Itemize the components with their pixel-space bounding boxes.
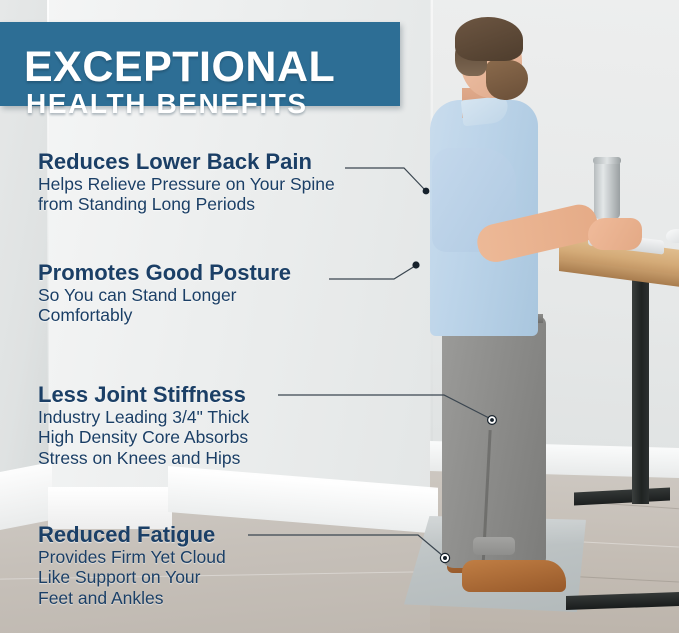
benefit-body-line: Helps Relieve Pressure on Your Spine [38,174,335,194]
benefit-body-line: Industry Leading 3/4" Thick [38,407,249,427]
benefit-body-line: from Standing Long Periods [38,194,335,214]
benefit-block-2: Promotes Good Posture So You can Stand L… [38,261,291,326]
hair [455,17,523,61]
benefit-body-line: High Density Core Absorbs [38,427,249,447]
benefit-body-line: Stress on Knees and Hips [38,448,249,468]
benefit-block-4: Reduced Fatigue Provides Firm Yet Cloud … [38,523,226,608]
header-banner: EXCEPTIONAL HEALTH BENEFITS [0,22,400,106]
desk-leg [632,272,649,504]
benefit-body-line: Feet and Ankles [38,588,226,608]
hand [588,218,642,250]
benefit-body-line: Provides Firm Yet Cloud [38,547,226,567]
trousers [442,316,546,568]
benefit-title: Reduces Lower Back Pain [38,150,335,174]
sock [473,537,515,555]
banner-title-line2: HEALTH BENEFITS [26,90,308,118]
benefit-body-line: Like Support on Your [38,567,226,587]
benefit-title: Promotes Good Posture [38,261,291,285]
benefit-block-1: Reduces Lower Back Pain Helps Relieve Pr… [38,150,335,215]
shoe-front [462,560,566,592]
infographic-canvas: EXCEPTIONAL HEALTH BENEFITS Reduces Lowe… [0,0,679,633]
benefit-title: Reduced Fatigue [38,523,226,547]
mouse [666,229,679,243]
baseboard-left [0,462,52,530]
benefit-title: Less Joint Stiffness [38,383,249,407]
benefit-body-line: So You can Stand Longer [38,285,291,305]
banner-title-line1: EXCEPTIONAL [24,46,335,89]
benefit-block-3: Less Joint Stiffness Industry Leading 3/… [38,383,249,468]
benefit-body-line: Comfortably [38,305,291,325]
tumbler [594,161,620,219]
tumbler-lid [593,157,621,164]
